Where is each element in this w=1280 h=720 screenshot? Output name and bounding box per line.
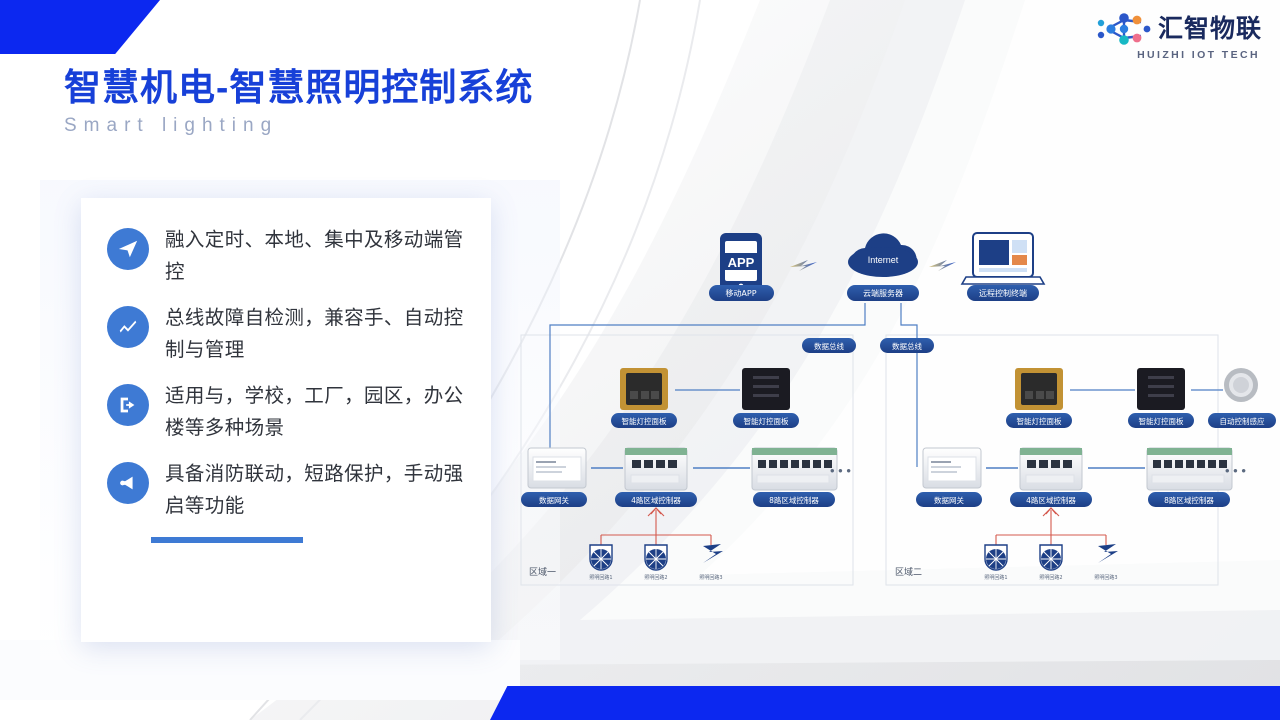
page-title: 智慧机电-智慧照明控制系统 — [64, 68, 533, 109]
brand-logo: 汇智物联 HUIZHI IOT TECH — [1097, 12, 1262, 61]
feature-card: 融入定时、本地、集中及移动端管控 总线故障自检测，兼容手、自动控制与管理 适用与… — [81, 198, 491, 642]
page-subtitle: Smart lighting — [64, 115, 533, 137]
zone2-lamp-3: 照明回路3 — [1094, 544, 1118, 581]
zone2-controller-4way: 4路区域控制器 — [1010, 448, 1092, 507]
zone-label-2: 区域二 — [895, 566, 922, 578]
zone1-lamp-3: 照明回路3 — [699, 544, 723, 581]
megaphone-icon — [107, 462, 149, 504]
feature-item: 融入定时、本地、集中及移动端管控 — [107, 224, 469, 287]
logo-text-cn: 汇智物联 — [1158, 17, 1262, 42]
controller-label: 4路区域控制器 — [1026, 495, 1076, 505]
bus-label-text: 数据总线 — [892, 341, 922, 351]
zone1-panel-gold: 智能灯控面板 — [611, 368, 677, 428]
loop-label: 照明回路3 — [1094, 574, 1117, 581]
node-label-mobile-app: 移动APP — [725, 288, 756, 298]
sensor-label: 自动控制感应 — [1220, 416, 1265, 426]
lightning-bolt-icon-1 — [790, 260, 817, 271]
zone1-controller-4way: 4路区域控制器 — [615, 448, 697, 507]
feature-text: 融入定时、本地、集中及移动端管控 — [165, 224, 469, 287]
controller-label: 4路区域控制器 — [631, 495, 681, 505]
bus-label-text: 数据总线 — [814, 341, 844, 351]
bus-connector-lines — [550, 303, 917, 467]
zone2-lamp-2: 照明回路2 — [1039, 545, 1062, 581]
zone1-lamp-wiring — [601, 508, 711, 545]
card-underline-accent — [151, 537, 303, 543]
controller-label: 8路区域控制器 — [1164, 495, 1214, 505]
feature-item: 适用与，学校，工厂，园区，办公楼等多种场景 — [107, 380, 469, 443]
loop-label: 照明回路1 — [589, 574, 612, 581]
node-label-remote-terminal: 远程控制终端 — [979, 288, 1027, 298]
page-title-block: 智慧机电-智慧照明控制系统 Smart lighting — [64, 68, 533, 137]
app-label: APP — [728, 255, 755, 270]
chart-line-icon — [107, 306, 149, 348]
zone1-panel-dark: 智能灯控面板 — [733, 368, 799, 428]
feature-text: 总线故障自检测，兼容手、自动控制与管理 — [165, 302, 469, 365]
loop-label: 照明回路1 — [984, 574, 1007, 581]
node-label-cloud-server: 云端服务器 — [863, 288, 903, 298]
node-cloud-server: Internet 云端服务器 — [847, 233, 919, 301]
controller-label: 8路区域控制器 — [769, 495, 819, 505]
feature-text: 适用与，学校，工厂，园区，办公楼等多种场景 — [165, 380, 469, 443]
panel-label: 智能灯控面板 — [1017, 416, 1062, 426]
zone1-lamp-1: 照明回路1 — [589, 545, 612, 581]
logout-arrow-icon — [107, 384, 149, 426]
panel-label: 智能灯控面板 — [622, 416, 667, 426]
node-remote-terminal: 远程控制终端 — [962, 233, 1044, 301]
zone2-panel-gold: 智能灯控面板 — [1006, 368, 1072, 428]
gateway-label: 数据网关 — [934, 495, 964, 505]
bus-label-2: 数据总线 — [880, 338, 934, 353]
zone1-controller-8way: 8路区域控制器 — [752, 448, 837, 507]
zone2-panel-dark: 智能灯控面板 — [1128, 368, 1194, 428]
bottom-right-accent-bar — [490, 686, 1280, 720]
zone2-gateway: 数据网关 — [916, 448, 982, 507]
node-mobile-app: APP 移动APP — [709, 233, 774, 301]
zone1-lamp-2: 照明回路2 — [644, 545, 667, 581]
panel-label: 智能灯控面板 — [1139, 416, 1184, 426]
paper-plane-icon — [107, 228, 149, 270]
logo-text-en: HUIZHI IOT TECH — [1137, 49, 1260, 61]
panel-label: 智能灯控面板 — [744, 416, 789, 426]
zone1-ellipsis: • • • — [830, 463, 851, 478]
zone2-lamp-1: 照明回路1 — [984, 545, 1007, 581]
zone2-lamp-wiring — [996, 508, 1106, 545]
molecule-network-icon — [1097, 12, 1151, 46]
loop-label: 照明回路3 — [699, 574, 722, 581]
feature-item: 具备消防联动，短路保护，手动强启等功能 — [107, 458, 469, 521]
zone-label-1: 区域一 — [529, 566, 556, 578]
zone2-controller-8way: 8路区域控制器 — [1147, 448, 1232, 507]
loop-label: 照明回路2 — [644, 574, 667, 581]
zone1-gateway: 数据网关 — [521, 448, 587, 507]
gateway-label: 数据网关 — [539, 495, 569, 505]
bus-label-1: 数据总线 — [802, 338, 856, 353]
loop-label: 照明回路2 — [1039, 574, 1062, 581]
lightning-bolt-icon-2 — [929, 260, 956, 271]
lighting-system-diagram: APP 移动APP Internet 云端服务器 远程控制终端 数据总线 — [505, 205, 1280, 615]
feature-text: 具备消防联动，短路保护，手动强启等功能 — [165, 458, 469, 521]
cloud-internet-label: Internet — [868, 255, 899, 265]
feature-item: 总线故障自检测，兼容手、自动控制与管理 — [107, 302, 469, 365]
zone2-ellipsis: • • • — [1225, 463, 1246, 478]
